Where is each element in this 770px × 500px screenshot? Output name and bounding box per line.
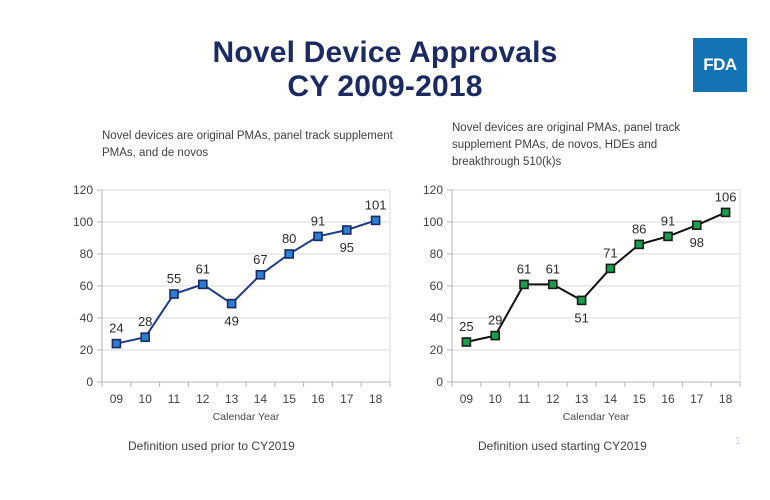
- x-tick-label: 10: [489, 392, 503, 406]
- data-point-label: 25: [459, 319, 473, 334]
- data-point-marker: [112, 340, 120, 348]
- y-tick-label: 80: [430, 247, 444, 261]
- right-chart-panel: Novel devices are original PMAs, panel t…: [400, 0, 770, 500]
- data-point-label: 67: [253, 252, 267, 267]
- x-tick-label: 09: [110, 392, 124, 406]
- left-chart-svg: 02040608010012009101112131415161718Calen…: [58, 182, 398, 422]
- data-point-marker: [462, 338, 470, 346]
- data-point-label: 86: [632, 221, 646, 236]
- x-tick-label: 16: [311, 392, 325, 406]
- data-point-label: 91: [661, 213, 675, 228]
- y-tick-label: 120: [423, 183, 443, 197]
- data-point-marker: [578, 296, 586, 304]
- data-point-label: 101: [365, 197, 387, 212]
- x-tick-label: 15: [633, 392, 647, 406]
- data-point-label: 28: [138, 314, 152, 329]
- y-tick-label: 120: [73, 183, 93, 197]
- left-chart-caption: Definition used prior to CY2019: [128, 439, 295, 453]
- page-number: 1: [735, 436, 741, 447]
- data-point-marker: [722, 208, 730, 216]
- left-chart-panel: Novel devices are original PMAs, panel t…: [40, 0, 400, 500]
- data-point-marker: [491, 332, 499, 340]
- series-line: [466, 212, 725, 342]
- y-tick-label: 100: [73, 215, 93, 229]
- y-tick-label: 0: [436, 375, 443, 389]
- data-point-label: 71: [603, 245, 617, 260]
- y-tick-label: 100: [423, 215, 443, 229]
- data-point-marker: [664, 232, 672, 240]
- y-tick-label: 60: [80, 279, 94, 293]
- x-tick-label: 12: [196, 392, 210, 406]
- data-point-marker: [170, 290, 178, 298]
- data-point-marker: [549, 280, 557, 288]
- right-chart-subtitle: Novel devices are original PMAs, panel t…: [452, 120, 717, 171]
- data-point-label: 49: [224, 314, 238, 329]
- left-chart: 02040608010012009101112131415161718Calen…: [58, 182, 398, 422]
- y-tick-label: 20: [430, 343, 444, 357]
- right-chart-svg: 02040608010012009101112131415161718Calen…: [408, 182, 748, 422]
- data-point-marker: [314, 232, 322, 240]
- x-axis-title: Calendar Year: [563, 411, 630, 422]
- data-point-label: 51: [574, 310, 588, 325]
- data-point-label: 61: [546, 261, 560, 276]
- data-point-label: 29: [488, 313, 502, 328]
- data-point-marker: [606, 264, 614, 272]
- data-point-marker: [372, 216, 380, 224]
- data-point-marker: [343, 226, 351, 234]
- data-point-marker: [693, 221, 701, 229]
- data-point-marker: [256, 271, 264, 279]
- slide-canvas: Novel Device Approvals CY 2009-2018 FDA …: [0, 0, 770, 500]
- x-tick-label: 17: [690, 392, 704, 406]
- x-tick-label: 11: [518, 392, 531, 406]
- left-chart-subtitle: Novel devices are original PMAs, panel t…: [102, 128, 402, 162]
- x-tick-label: 14: [604, 392, 618, 406]
- data-point-label: 61: [196, 261, 210, 276]
- x-tick-label: 10: [139, 392, 153, 406]
- x-tick-label: 09: [460, 392, 474, 406]
- y-tick-label: 80: [80, 247, 94, 261]
- data-point-marker: [285, 250, 293, 258]
- x-tick-label: 16: [661, 392, 675, 406]
- data-point-label: 80: [282, 231, 296, 246]
- data-point-label: 95: [340, 240, 354, 255]
- data-point-label: 91: [311, 213, 325, 228]
- data-point-label: 61: [517, 261, 531, 276]
- x-tick-label: 13: [575, 392, 589, 406]
- right-chart-caption: Definition used starting CY2019: [478, 439, 647, 453]
- x-tick-label: 17: [340, 392, 354, 406]
- data-point-label: 106: [715, 189, 737, 204]
- y-tick-label: 40: [80, 311, 94, 325]
- data-point-label: 55: [167, 271, 181, 286]
- x-tick-label: 14: [254, 392, 268, 406]
- x-tick-label: 18: [719, 392, 733, 406]
- y-tick-label: 40: [430, 311, 444, 325]
- data-point-marker: [199, 280, 207, 288]
- x-tick-label: 13: [225, 392, 239, 406]
- right-chart: 02040608010012009101112131415161718Calen…: [408, 182, 748, 422]
- x-tick-label: 11: [168, 392, 181, 406]
- data-point-label: 24: [109, 321, 123, 336]
- data-point-marker: [228, 300, 236, 308]
- x-tick-label: 15: [283, 392, 297, 406]
- y-tick-label: 0: [86, 375, 93, 389]
- x-tick-label: 12: [546, 392, 560, 406]
- y-tick-label: 60: [430, 279, 444, 293]
- data-point-marker: [635, 240, 643, 248]
- data-point-marker: [141, 333, 149, 341]
- y-tick-label: 20: [80, 343, 94, 357]
- data-point-marker: [520, 280, 528, 288]
- x-axis-title: Calendar Year: [213, 411, 280, 422]
- data-point-label: 98: [690, 235, 704, 250]
- series-line: [116, 220, 375, 343]
- x-tick-label: 18: [369, 392, 383, 406]
